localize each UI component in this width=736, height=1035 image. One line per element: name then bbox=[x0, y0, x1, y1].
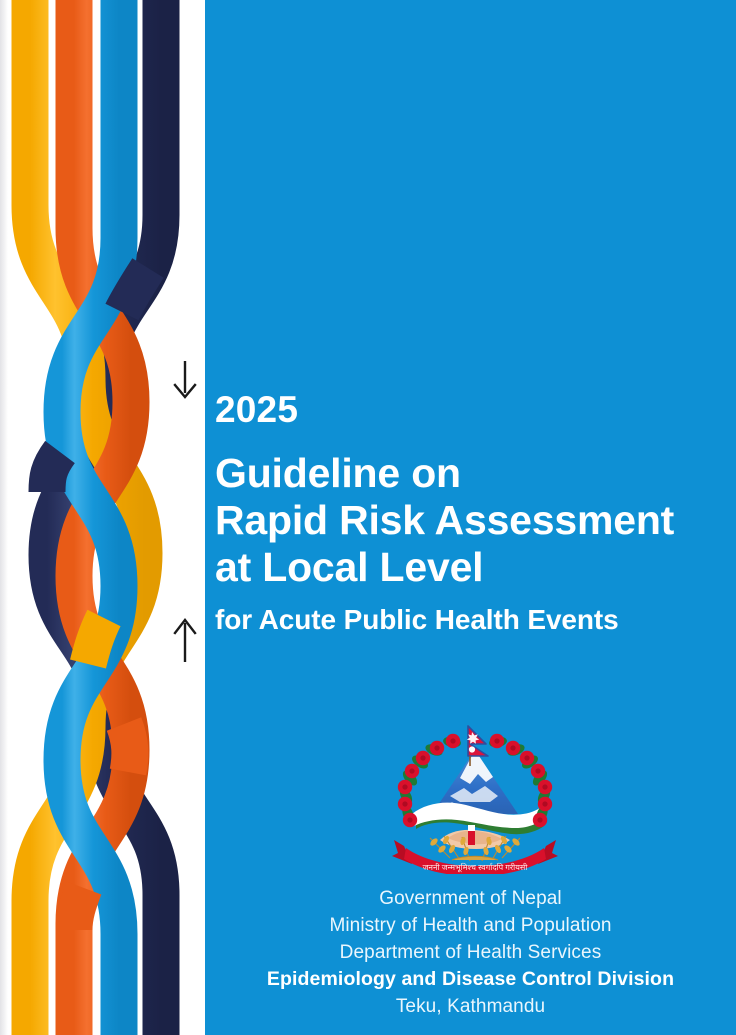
braid-overlap-navy-1 bbox=[47, 452, 60, 492]
motto-text: जननी जन्मभूमिश्च स्वर्गादपि गरीयसी bbox=[423, 862, 529, 873]
page-title-line-2: Rapid Risk Assessment bbox=[215, 497, 736, 544]
publisher-line-division: Epidemiology and Disease Control Divisio… bbox=[205, 966, 736, 993]
braid-overlap-amber-1 bbox=[88, 618, 104, 664]
page-title-line-3: at Local Level bbox=[215, 544, 736, 591]
publisher-line-department: Department of Health Services bbox=[205, 939, 736, 966]
arrow-up-icon bbox=[172, 617, 198, 670]
page-edge-shadow bbox=[0, 0, 8, 1035]
publisher-line-government: Government of Nepal bbox=[205, 885, 736, 912]
publication-year: 2025 bbox=[215, 388, 736, 432]
cover-content-panel: 2025 Guideline on Rapid Risk Assessment … bbox=[205, 0, 736, 1035]
publisher-block: Government of Nepal Ministry of Health a… bbox=[205, 885, 736, 1020]
emblem-graphic: जननी जन्मभूमिश्च स्वर्गादपि गरीयसी bbox=[390, 722, 560, 874]
braid-overlap-orange-1 bbox=[124, 724, 130, 772]
publisher-line-location: Teku, Kathmandu bbox=[205, 993, 736, 1020]
arrow-down-icon bbox=[172, 360, 198, 405]
braid-overlap-orange-2 bbox=[74, 888, 84, 930]
braid-overlap-navy-2 bbox=[122, 268, 148, 312]
four-strand-braid-graphic bbox=[0, 0, 205, 1035]
page-subtitle: for Acute Public Health Events bbox=[215, 603, 736, 637]
coat-of-arms-of-nepal-emblem: जननी जन्मभूमिश्च स्वर्गादपि गरीयसी bbox=[390, 722, 560, 874]
title-block: 2025 Guideline on Rapid Risk Assessment … bbox=[215, 388, 736, 637]
decorative-braid-panel bbox=[0, 0, 205, 1035]
page-title-line-1: Guideline on bbox=[215, 450, 736, 497]
publisher-line-ministry: Ministry of Health and Population bbox=[205, 912, 736, 939]
document-cover-page: 2025 Guideline on Rapid Risk Assessment … bbox=[0, 0, 736, 1035]
